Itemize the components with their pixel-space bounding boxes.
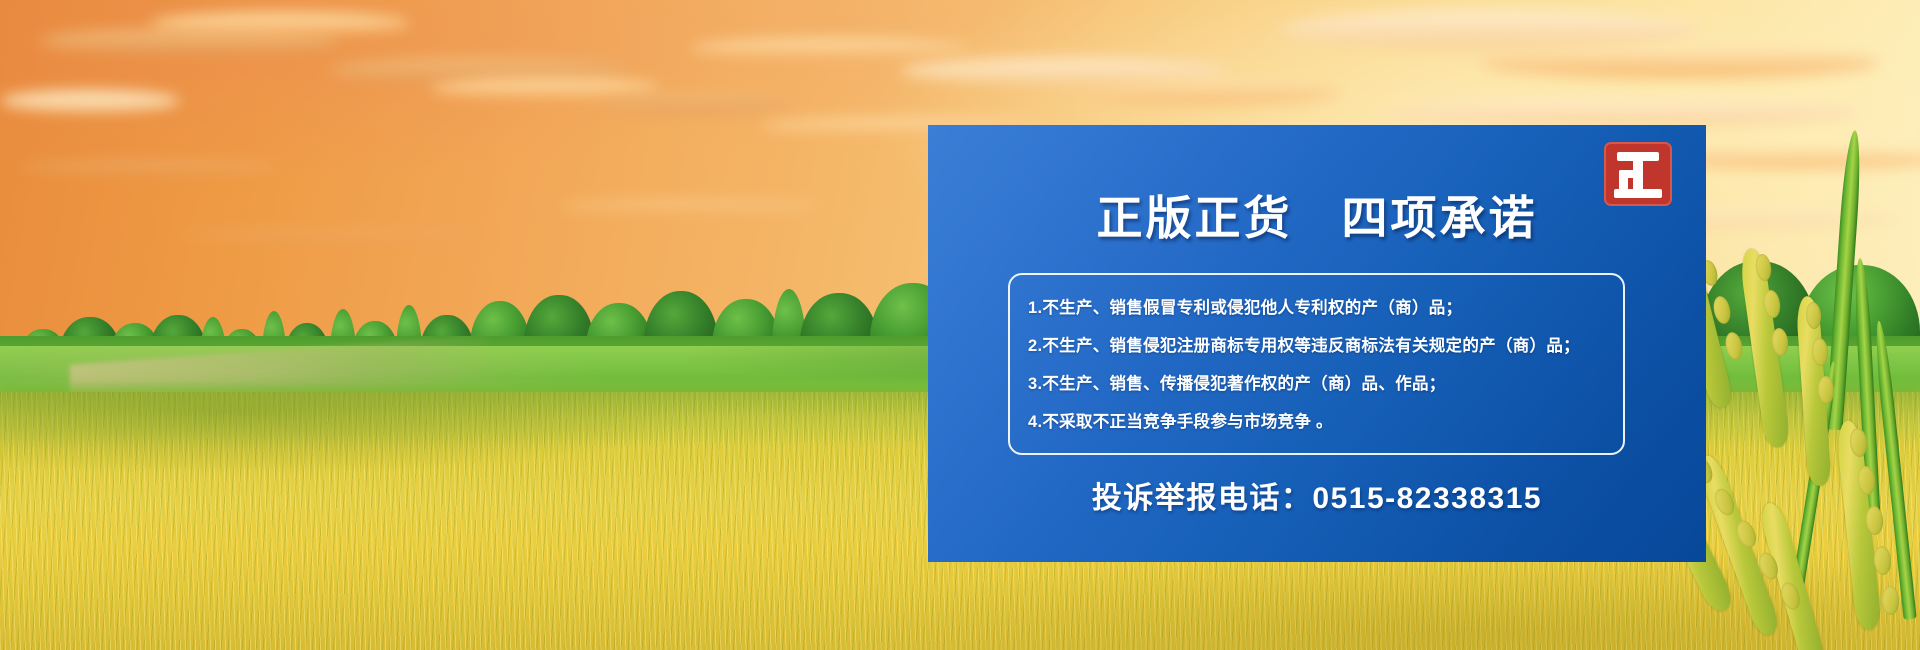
cloud [600, 95, 800, 113]
promise-item: 2.不生产、销售侵犯注册商标专用权等违反商标法有关规定的产（商）品； [1028, 327, 1613, 365]
cloud [1080, 82, 1340, 104]
rice-grain [1711, 295, 1732, 326]
cloud [180, 230, 480, 240]
cloud [430, 78, 660, 98]
panel-title: 正版正货 四项承诺 [928, 182, 1706, 248]
cloud [1480, 48, 1880, 78]
cloud [20, 160, 280, 174]
promise-item: 3.不生产、销售、传播侵犯著作权的产（商）品、作品； [1028, 365, 1613, 403]
promise-list: 1.不生产、销售假冒专利或侵犯他人专利权的产（商）品； 2.不生产、销售侵犯注册… [1028, 289, 1613, 441]
cloud [900, 58, 1230, 84]
cloud [0, 90, 180, 112]
promise-item: 4.不采取不正当竞争手段参与市场竞争 。 [1028, 403, 1613, 441]
promise-list-box: 1.不生产、销售假冒专利或侵犯他人专利权的产（商）品； 2.不生产、销售侵犯注册… [1008, 273, 1625, 455]
cloud [690, 38, 970, 58]
promise-panel: 正版正货 四项承诺 1.不生产、销售假冒专利或侵犯他人专利权的产（商）品； 2.… [928, 125, 1706, 562]
rice-blade [1872, 320, 1916, 620]
cloud [1280, 10, 1700, 50]
promise-item: 1.不生产、销售假冒专利或侵犯他人专利权的产（商）品； [1028, 289, 1613, 327]
cloud [150, 12, 410, 34]
rice-grain [1881, 586, 1899, 616]
cloud [560, 200, 820, 212]
banner-stage: 正版正货 四项承诺 1.不生产、销售假冒专利或侵犯他人专利权的产（商）品； 2.… [0, 0, 1920, 650]
complaint-hotline: 投诉举报电话：0515-82338315 [928, 473, 1706, 517]
rice-grain [1723, 331, 1744, 362]
